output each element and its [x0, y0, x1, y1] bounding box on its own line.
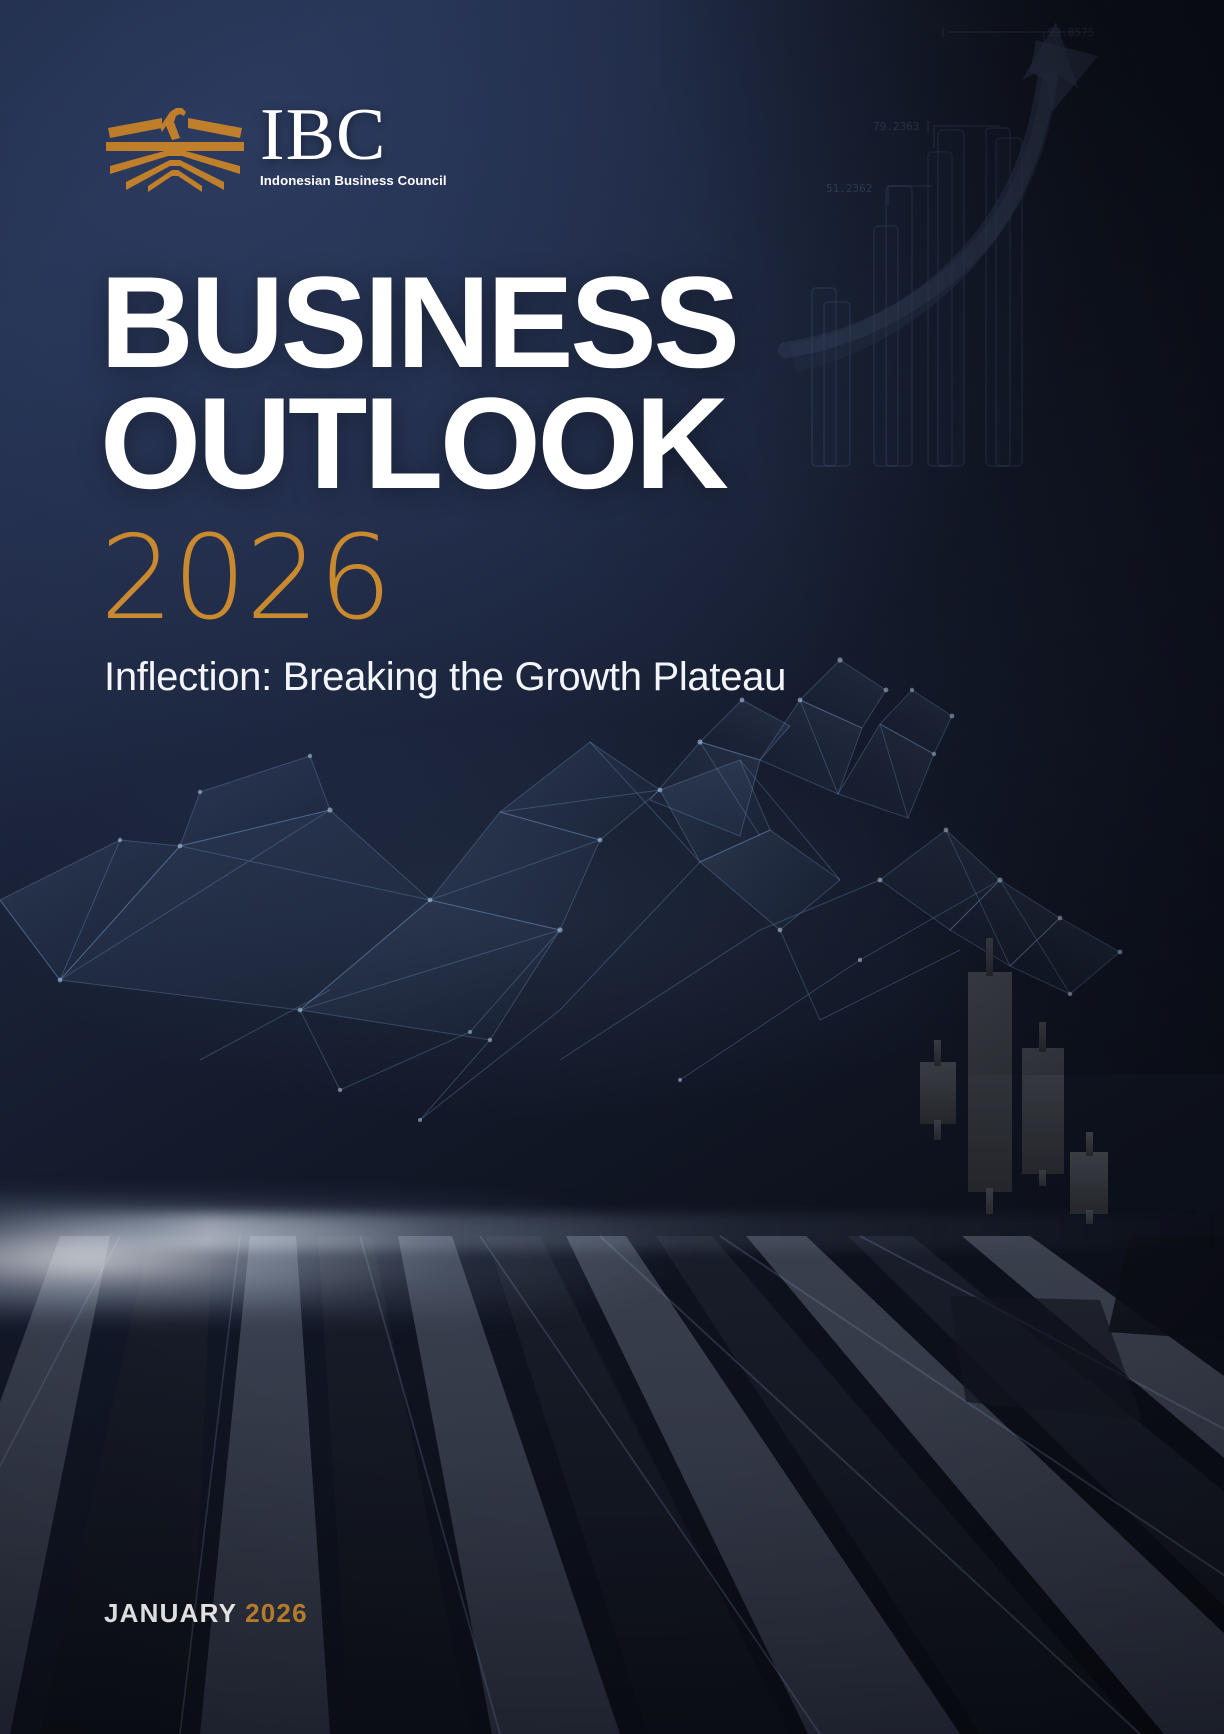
title-block: BUSINESS OUTLOOK 2026	[100, 262, 737, 644]
garuda-wings-mark	[104, 100, 246, 192]
ibc-logo[interactable]: IBC Indonesian Business Council	[104, 100, 447, 192]
publication-month: JANUARY	[104, 1598, 237, 1628]
logo-tagline: Indonesian Business Council	[260, 173, 447, 188]
report-cover: 99.8575 79.2363 51.2362	[0, 0, 1224, 1734]
publication-year: 2026	[245, 1598, 308, 1628]
cover-subtitle: Inflection: Breaking the Growth Plateau	[104, 655, 786, 700]
page-title-line-1: BUSINESS	[100, 262, 737, 383]
cover-year: 2026	[100, 514, 737, 644]
logo-text-block: IBC Indonesian Business Council	[260, 104, 447, 188]
logo-wordmark: IBC	[260, 104, 386, 166]
floor-slabs	[0, 1236, 1224, 1734]
page-title-line-2: OUTLOOK	[100, 383, 737, 504]
publication-date: JANUARY 2026	[104, 1598, 308, 1629]
